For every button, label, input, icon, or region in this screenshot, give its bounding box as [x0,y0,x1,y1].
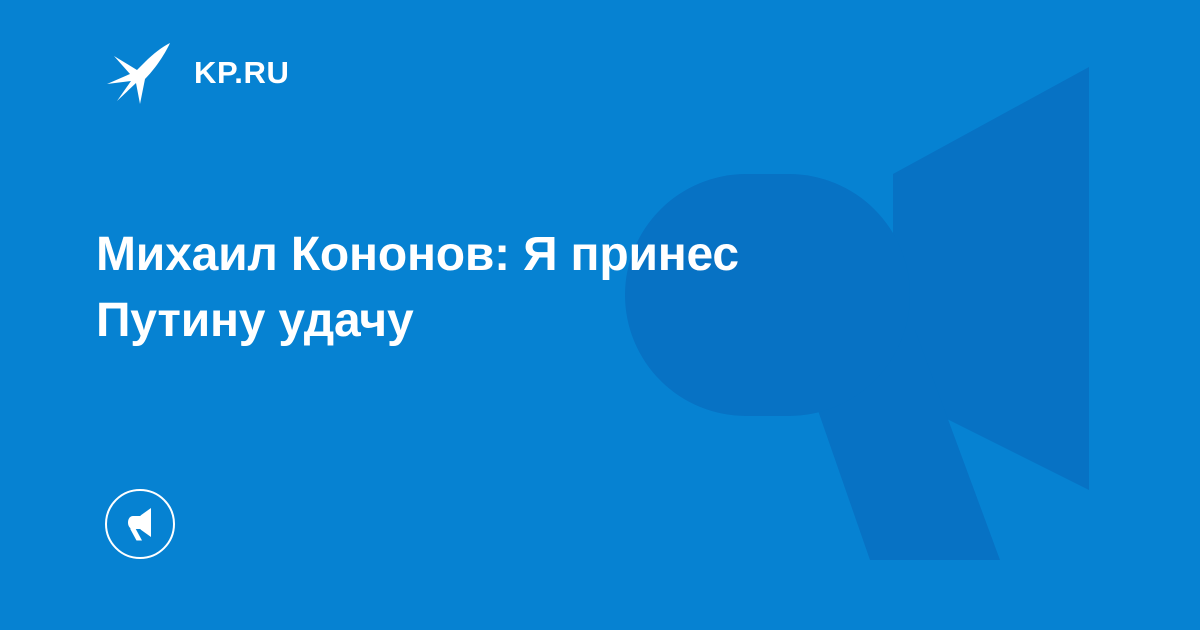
swallow-bird-icon [104,38,172,106]
page-title: Михаил Кононов: Я принес Путину удачу [96,222,916,354]
megaphone-badge[interactable] [105,489,175,559]
brand-name-label: KP.RU [194,57,289,88]
page-title-line-1: Михаил Кононов: Я принес [96,228,739,281]
page-title-line-2: Путину удачу [96,294,413,347]
social-share-card: KP.RU Михаил Кононов: Я принес Путину уд… [0,0,1200,630]
megaphone-icon [120,504,160,544]
megaphone-handle-shape [790,330,1000,560]
megaphone-cone-shape [893,67,1089,490]
brand-logo[interactable]: KP.RU [104,36,289,108]
